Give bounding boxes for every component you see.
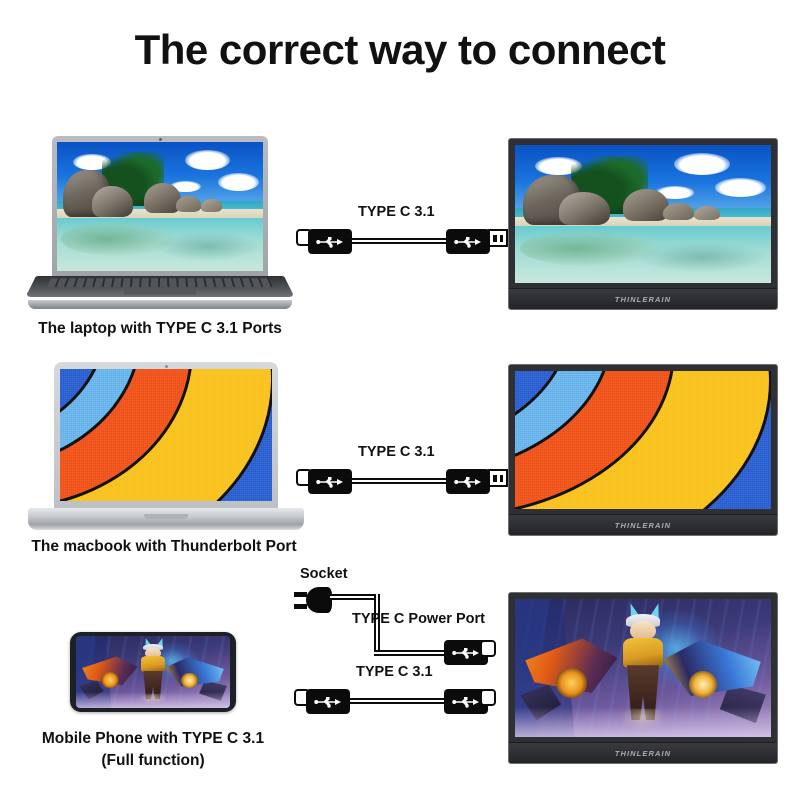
brand-logo: THINLERAIN — [615, 749, 671, 758]
usb-c-tip-power — [480, 640, 496, 657]
cable-label-row3: TYPE C 3.1 — [356, 664, 433, 680]
power-wire-horizontal-top — [328, 594, 380, 600]
macbook-caption: The macbook with Thunderbolt Port — [14, 538, 314, 556]
laptop-screen — [57, 142, 263, 271]
brand-logo: THINLERAIN — [615, 295, 671, 304]
laptop-base — [24, 276, 296, 310]
laptop-trackpad — [123, 288, 196, 294]
cable-label-row1: TYPE C 3.1 — [358, 204, 435, 220]
plug-prong-top — [294, 592, 307, 597]
usb-c-connector-left — [308, 469, 352, 494]
usb-a-connector-right — [446, 229, 490, 254]
portable-monitor-3: THINLERAIN — [508, 592, 778, 764]
laptop-keyboard-deck — [25, 276, 294, 297]
mobile-phone-device — [70, 632, 236, 712]
cable-type-c-row1: TYPE C 3.1 — [296, 204, 506, 260]
monitor-bottom-bezel-2: THINLERAIN — [509, 514, 777, 535]
cable-type-c-row3: TYPE C 3.1 — [294, 664, 509, 720]
laptop-lid — [52, 136, 268, 278]
socket-label: Socket — [300, 566, 348, 582]
macbook-front-notch — [144, 514, 188, 519]
power-plug-icon — [306, 587, 332, 613]
usb-trident-icon — [454, 476, 482, 488]
laptop-keyboard — [47, 278, 273, 287]
monitor-bottom-bezel-1: THINLERAIN — [509, 288, 777, 309]
usb-trident-icon — [316, 476, 344, 488]
usb-trident-icon — [452, 647, 480, 659]
macbook-screen — [60, 369, 272, 501]
wallpaper-tropical-beach — [515, 145, 771, 283]
usb-c-connector-left — [308, 229, 352, 254]
usb-trident-icon — [452, 696, 480, 708]
usb-trident-icon — [314, 696, 342, 708]
page-title: The correct way to connect — [0, 26, 800, 74]
usb-c-tip-right — [480, 689, 496, 706]
cable-label-row2: TYPE C 3.1 — [358, 444, 435, 460]
cable-type-c-row2: TYPE C 3.1 — [296, 444, 506, 500]
wallpaper-color-bands — [515, 371, 771, 509]
laptop-front-edge — [28, 300, 292, 309]
wallpaper-color-bands — [60, 369, 272, 501]
macbook-base — [28, 508, 304, 530]
brand-logo: THINLERAIN — [615, 521, 671, 530]
phone-caption-line1: Mobile Phone with TYPE C 3.1 — [13, 730, 293, 748]
portable-monitor-2: THINLERAIN — [508, 364, 778, 536]
plug-prong-bottom — [294, 604, 307, 609]
usb-a-tip-right — [488, 229, 508, 247]
wallpaper-game-art — [76, 636, 230, 708]
monitor-screen-1 — [515, 145, 771, 283]
wallpaper-tropical-beach — [57, 142, 263, 271]
macbook-lid — [54, 362, 278, 510]
cable-wire — [340, 478, 456, 484]
phone-caption-line2: (Full function) — [13, 752, 293, 770]
usb-a-connector-right — [446, 469, 490, 494]
webcam-icon — [165, 365, 168, 368]
macbook-device — [28, 362, 304, 538]
power-port-label: TYPE C Power Port — [352, 611, 485, 627]
monitor-screen-3 — [515, 599, 771, 737]
cable-wire — [340, 238, 456, 244]
usb-a-tip-right — [488, 469, 508, 487]
usb-c-connector-left — [306, 689, 350, 714]
wallpaper-game-art — [515, 599, 771, 737]
webcam-icon — [159, 138, 162, 141]
usb-trident-icon — [454, 236, 482, 248]
monitor-bottom-bezel-3: THINLERAIN — [509, 742, 777, 763]
laptop-caption: The laptop with TYPE C 3.1 Ports — [24, 320, 296, 338]
power-cable-group: Socket TYPE C Power Port — [294, 566, 509, 676]
portable-monitor-1: THINLERAIN — [508, 138, 778, 310]
phone-screen — [76, 636, 230, 708]
cable-wire — [338, 698, 454, 704]
laptop-device — [24, 136, 296, 312]
usb-trident-icon — [316, 236, 344, 248]
monitor-screen-2 — [515, 371, 771, 509]
